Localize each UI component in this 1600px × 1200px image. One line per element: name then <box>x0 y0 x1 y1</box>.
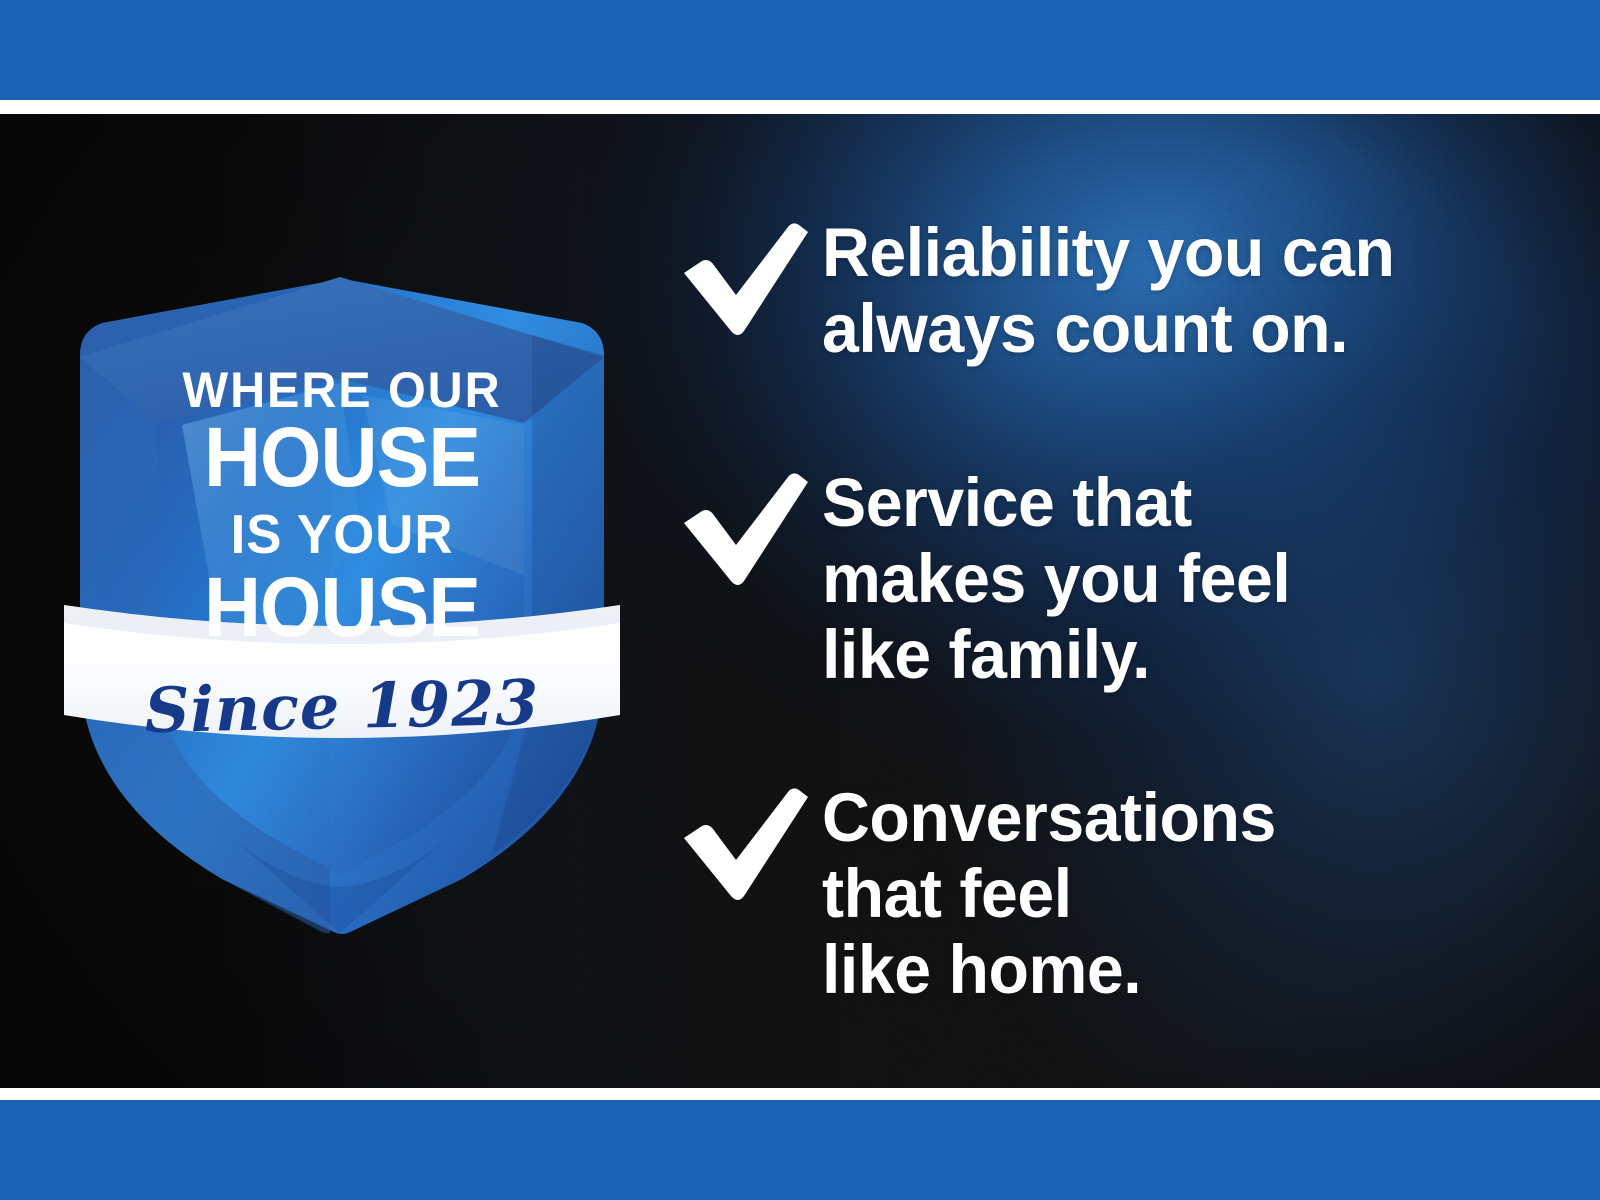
list-item-line: Service that <box>822 465 1290 541</box>
shield-badge: WHERE OUR HOUSE IS YOUR HOUSE Since 1923 <box>62 275 622 935</box>
checkmark-icon <box>672 465 822 587</box>
top-brand-bar <box>0 0 1600 100</box>
list-item-line: like home. <box>822 932 1276 1008</box>
list-item-text: Service that makes you feel like family. <box>822 465 1290 693</box>
list-item-text: Conversations that feel like home. <box>822 780 1276 1008</box>
bottom-white-divider <box>0 1088 1600 1100</box>
list-item-line: makes you feel <box>822 541 1290 617</box>
list-item-line: Conversations <box>822 780 1276 856</box>
bottom-brand-bar <box>0 1100 1600 1200</box>
shield-icon <box>62 275 622 935</box>
list-item-line: always count on. <box>822 291 1394 367</box>
list-item: Service that makes you feel like family. <box>672 465 1310 693</box>
list-item-line: Reliability you can <box>822 215 1394 291</box>
promo-graphic: WHERE OUR HOUSE IS YOUR HOUSE Since 1923… <box>0 0 1600 1200</box>
checkmark-icon <box>672 780 822 902</box>
list-item-line: like family. <box>822 617 1290 693</box>
list-item: Reliability you can always count on. <box>672 215 1418 367</box>
list-item: Conversations that feel like home. <box>672 780 1295 1008</box>
list-item-line: that feel <box>822 856 1276 932</box>
list-item-text: Reliability you can always count on. <box>822 215 1394 367</box>
top-white-divider <box>0 100 1600 114</box>
checkmark-icon <box>672 215 822 337</box>
